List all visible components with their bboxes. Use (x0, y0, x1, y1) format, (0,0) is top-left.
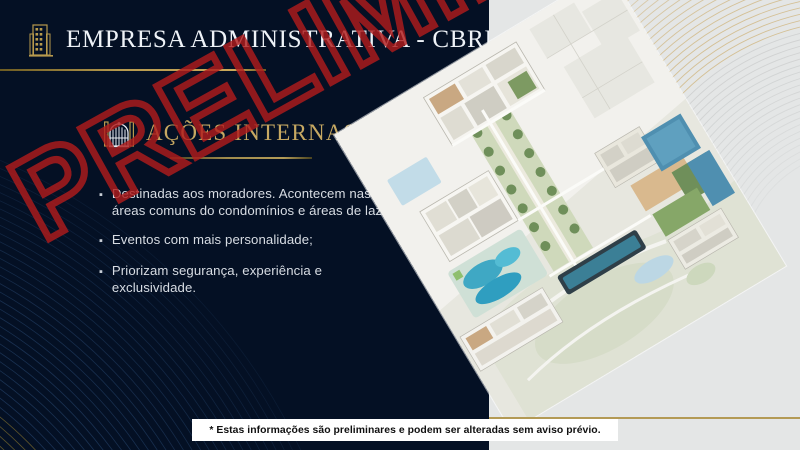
slide-canvas: EMPRESA ADMINISTRATIVA - CBRE (0, 0, 800, 450)
bullet-text: Eventos com mais personalidade; (112, 232, 313, 250)
footer-note: * Estas informações são preliminares e p… (209, 425, 600, 436)
bullet-marker: ▪ (99, 186, 103, 219)
bullet-text: Priorizam segurança, experiência e exclu… (112, 263, 399, 296)
slide-header: EMPRESA ADMINISTRATIVA - CBRE (28, 22, 489, 58)
gazebo-pavilion-icon (104, 116, 134, 150)
page-title: EMPRESA ADMINISTRATIVA - CBRE (66, 26, 489, 54)
office-building-icon (28, 22, 54, 58)
header-divider (0, 69, 266, 71)
list-item: ▪ Eventos com mais personalidade; (99, 232, 399, 250)
list-item: ▪ Destinadas aos moradores. Acontecem na… (99, 186, 399, 219)
bullet-text: Destinadas aos moradores. Acontecem nas … (112, 186, 399, 219)
footer-note-box: * Estas informações são preliminares e p… (192, 419, 618, 441)
bullet-marker: ▪ (99, 232, 103, 250)
list-item: ▪ Priorizam segurança, experiência e exc… (99, 263, 399, 296)
bullet-list: ▪ Destinadas aos moradores. Acontecem na… (99, 186, 399, 309)
bullet-marker: ▪ (99, 263, 103, 296)
section-title: AÇÕES INTERNAS (146, 120, 358, 146)
section-divider (170, 157, 312, 159)
section-header: AÇÕES INTERNAS (104, 116, 358, 150)
